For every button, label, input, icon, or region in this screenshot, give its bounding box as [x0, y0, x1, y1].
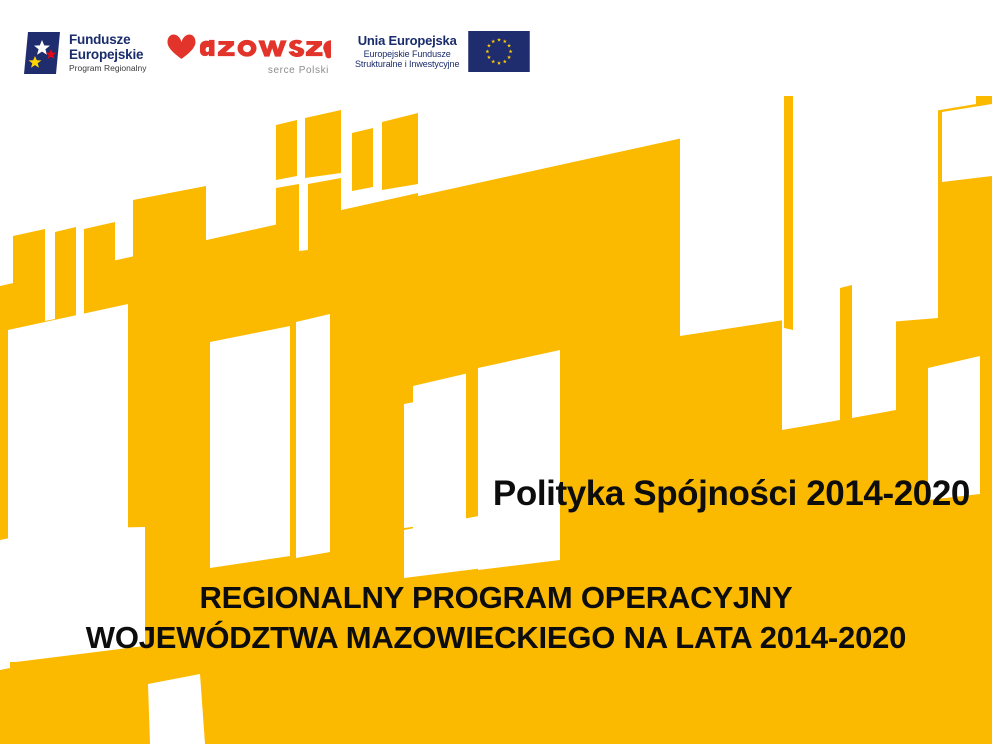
- main-title-line-1: REGIONALNY PROGRAM OPERACYJNY: [0, 578, 992, 618]
- unia-europejska-logo: Unia Europejska Europejskie Fundusze Str…: [355, 31, 530, 72]
- logo-bar: Fundusze Europejskie Program Regionalny: [0, 0, 992, 96]
- main-title-line-2: WOJEWÓDZTWA MAZOWIECKIEGO NA LATA 2014-2…: [0, 618, 992, 658]
- ue-line-1: Unia Europejska: [355, 33, 459, 49]
- european-union-flag-icon: [468, 31, 530, 72]
- ue-line-3: Strukturalne i Inwestycyjne: [355, 59, 459, 70]
- fundusze-europejskie-flag-icon: [22, 30, 62, 76]
- mazowsze-wordmark-icon: [163, 28, 331, 64]
- ue-line-2: Europejskie Fundusze: [355, 49, 459, 60]
- fe-line-3: Program Regionalny: [69, 64, 146, 73]
- fe-line-1: Fundusze: [69, 33, 146, 48]
- unia-europejska-text: Unia Europejska Europejskie Fundusze Str…: [355, 33, 459, 70]
- mazowsze-tagline: serce Polski: [163, 65, 331, 76]
- subtitle: Polityka Spójności 2014-2020: [493, 474, 970, 514]
- mazowsze-logo: serce Polski: [163, 28, 331, 76]
- presentation-slide: Fundusze Europejskie Program Regionalny: [0, 0, 992, 744]
- fundusze-europejskie-logo: Fundusze Europejskie Program Regionalny: [22, 30, 146, 76]
- fe-line-2: Europejskie: [69, 48, 146, 63]
- fundusze-europejskie-text: Fundusze Europejskie Program Regionalny: [69, 33, 146, 73]
- page-title: REGIONALNY PROGRAM OPERACYJNY WOJEWÓDZTW…: [0, 578, 992, 657]
